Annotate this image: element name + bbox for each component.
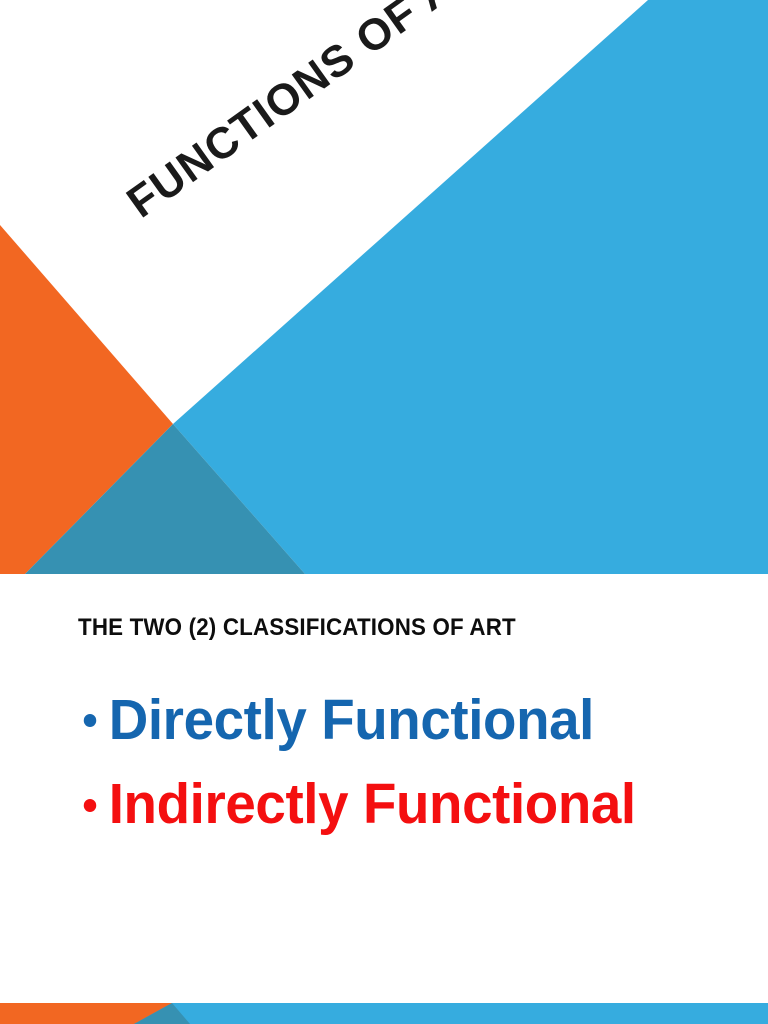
list-item-label: Directly Functional — [109, 688, 594, 752]
footer-decoration — [0, 1003, 768, 1024]
bullet-dot-icon — [84, 714, 96, 727]
header-shape-group — [0, 0, 768, 574]
body-subheading: THE TWO (2) CLASSIFICATIONS OF ART — [78, 615, 516, 641]
list-item-label: Indirectly Functional — [109, 772, 636, 836]
bullet-dot-icon — [84, 799, 96, 812]
header-decoration — [0, 0, 768, 574]
list-item-indirectly-functional[interactable]: Indirectly Functional — [78, 762, 712, 846]
footer-shape-group — [0, 1003, 768, 1024]
list-item-directly-functional[interactable]: Directly Functional — [78, 678, 712, 762]
presentation-slide: FUNCTIONS OF ART THE TWO (2) CLASSIFICAT… — [0, 0, 768, 1024]
slide-body: THE TWO (2) CLASSIFICATIONS OF ART Direc… — [0, 574, 768, 1003]
classification-list: Directly Functional Indirectly Functiona… — [78, 678, 738, 847]
